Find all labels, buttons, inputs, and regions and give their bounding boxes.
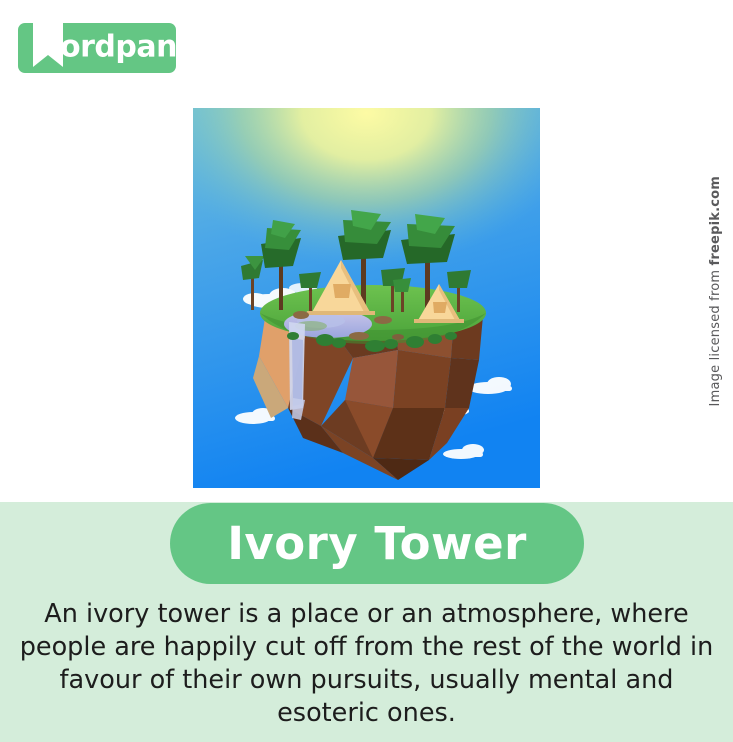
word-card-band: Ivory Tower An ivory tower is a place or… <box>0 502 733 742</box>
attribution-text: Image licensed from freepik.com <box>708 176 723 406</box>
attribution: Image licensed from freepik.com <box>702 176 728 426</box>
top-white-area: ordpandit <box>0 0 733 502</box>
illustration-panel <box>193 108 540 488</box>
floating-island-illustration <box>193 108 540 488</box>
wordpandit-logo[interactable]: ordpandit <box>18 23 176 73</box>
attribution-source: freepik.com <box>708 176 723 265</box>
word-definition: An ivory tower is a place or an atmosphe… <box>18 598 715 730</box>
logo-wordmark: ordpandit <box>60 32 222 62</box>
page-title: Ivory Tower <box>227 521 527 566</box>
word-title-pill: Ivory Tower <box>170 503 584 584</box>
attribution-prefix: Image licensed from <box>708 265 723 406</box>
